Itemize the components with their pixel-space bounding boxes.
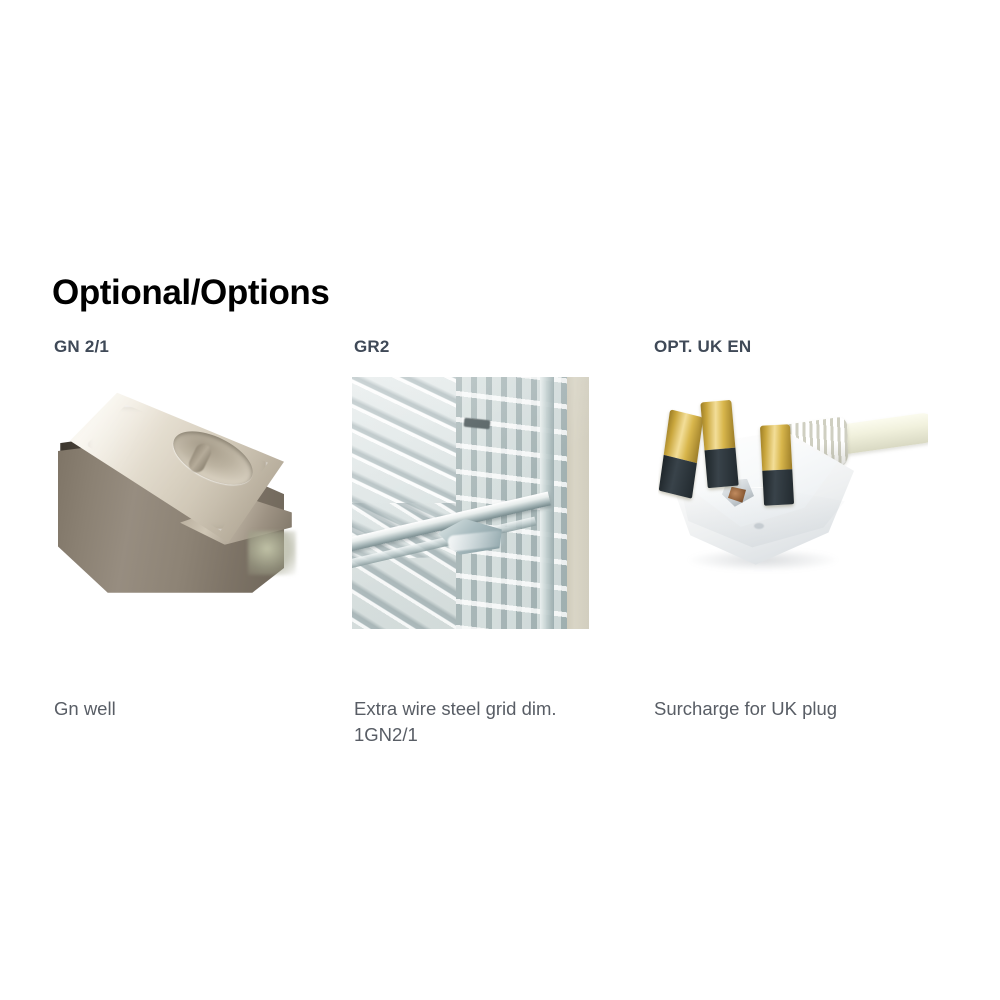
options-page: Optional/Options GN 2/1 Gn well [0, 0, 1000, 1000]
pin-brass-section [664, 409, 704, 463]
plug-face-dimple [754, 523, 764, 529]
option-code-label: GR2 [354, 338, 652, 357]
option-caption: Extra wire steel grid dim. 1GN2/1 [354, 696, 614, 749]
gastronorm-pan-illustration [52, 381, 300, 593]
plug-pin-earth [700, 400, 738, 488]
grid-light-wash [352, 377, 589, 629]
option-caption: Surcharge for UK plug [654, 696, 914, 722]
option-item-gr2: GR2 Extra wire steel grid di [352, 338, 652, 629]
page-title: Optional/Options [52, 275, 329, 312]
wire-grid-illustration [352, 377, 589, 629]
pin-insulated-section [659, 454, 697, 498]
pin-brass-section [700, 400, 735, 451]
pin-brass-section [760, 424, 792, 470]
option-item-opt-uk-en: OPT. UK EN [652, 338, 952, 595]
uk-plug-photo [658, 383, 928, 595]
pin-insulated-section [762, 469, 794, 506]
options-grid: GN 2/1 Gn well GR2 [52, 338, 952, 629]
pan-corner-glint [248, 531, 296, 575]
pin-insulated-section [705, 447, 739, 487]
wire-steel-grid-photo [352, 377, 589, 629]
option-caption: Gn well [54, 696, 314, 722]
option-code-label: OPT. UK EN [654, 338, 952, 357]
uk-plug-illustration [658, 383, 928, 595]
option-item-gn21: GN 2/1 Gn well [52, 338, 352, 593]
plug-pin-neutral [760, 424, 794, 505]
gastronorm-pan-photo [52, 381, 300, 593]
option-code-label: GN 2/1 [54, 338, 352, 357]
